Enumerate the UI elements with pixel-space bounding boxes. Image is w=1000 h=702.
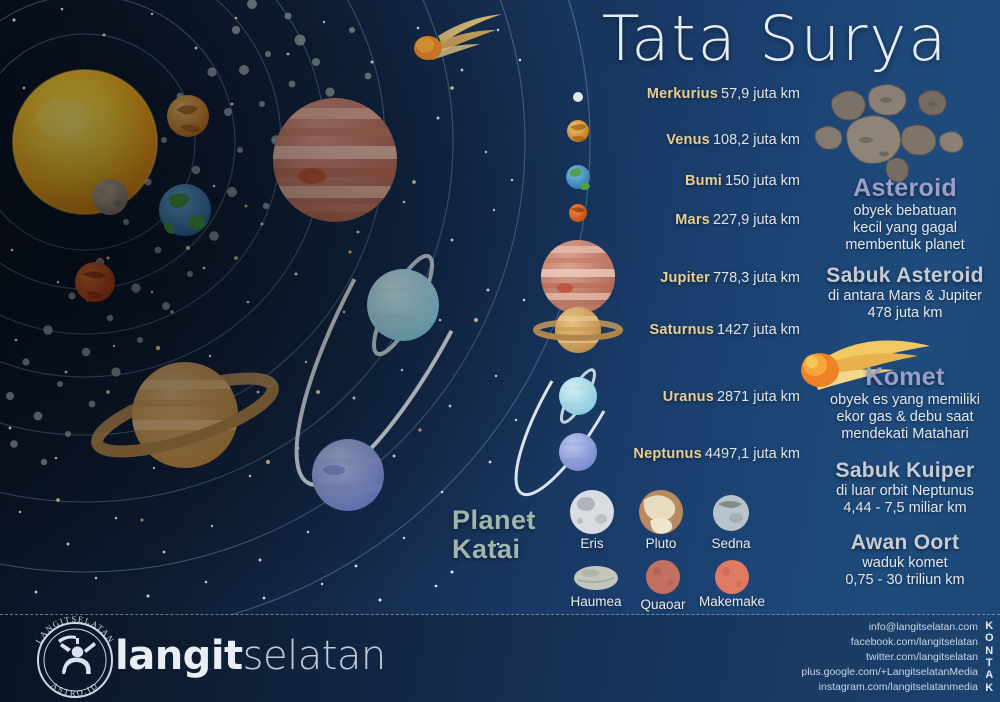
planet-distance: 1427 juta km	[717, 322, 800, 338]
comet-desc-line1: obyek es yang memiliki	[810, 392, 1000, 409]
contact-facebook[interactable]: facebook.com/langitselatan	[801, 635, 978, 650]
asteroid-belt-section: Sabuk Asteroid di antara Mars & Jupiter …	[810, 264, 1000, 322]
planet-row-uranus: Uranus2871 juta km	[663, 389, 800, 405]
planet-name: Uranus	[663, 389, 714, 405]
wordmark-bold: langit	[115, 633, 243, 679]
asteroid-heading: Asteroid	[810, 174, 1000, 203]
kuiper-belt-description: di luar orbit Neptunus 4,44 - 7,5 miliar…	[810, 483, 1000, 517]
planet-row-venus: Venus108,2 juta km	[666, 132, 800, 148]
kontak-vertical-label: KONTAK	[982, 620, 998, 694]
planet-distance: 4497,1 juta km	[705, 446, 800, 462]
planet-name: Jupiter	[660, 270, 710, 286]
planet-distance: 150 juta km	[725, 173, 800, 189]
contact-instagram[interactable]: instagram.com/langitselatanmedia	[801, 680, 978, 695]
asteroid-belt-line1: di antara Mars & Jupiter	[810, 288, 1000, 305]
sun	[13, 70, 157, 214]
dwarf-label-sedna: Sedna	[691, 536, 771, 551]
page-title: Tata Surya	[560, 6, 990, 71]
dwarf-planets-title: Planet Katai	[452, 506, 562, 564]
planet-row-jupiter: Jupiter778,3 juta km	[660, 270, 800, 286]
planet-neptune-diagram	[310, 439, 388, 511]
contact-googleplus[interactable]: plus.google.com/+LangitselatanMedia	[801, 665, 978, 680]
oort-cloud-description: waduk komet 0,75 - 30 triliun km	[810, 555, 1000, 589]
solar-system-diagram	[0, 0, 1000, 702]
dwarf-title-line2: Katai	[452, 535, 562, 564]
infographic-poster: Tata Surya	[0, 0, 1000, 702]
contact-twitter[interactable]: twitter.com/langitselatan	[801, 650, 978, 665]
planet-distance: 2871 juta km	[717, 389, 800, 405]
planet-row-neptunus: Neptunus4497,1 juta km	[633, 446, 800, 462]
contact-list: info@langitselatan.com facebook.com/lang…	[801, 620, 978, 695]
planet-distance: 108,2 juta km	[713, 132, 800, 148]
planet-distance: 57,9 juta km	[721, 86, 800, 102]
asteroid-belt-heading: Sabuk Asteroid	[810, 264, 1000, 288]
planet-name: Neptunus	[633, 446, 701, 462]
kontak-letter: N	[982, 645, 998, 657]
planet-venus-diagram	[167, 95, 209, 137]
kontak-letter: T	[982, 657, 998, 669]
oort-cloud-line2: 0,75 - 30 triliun km	[810, 572, 1000, 589]
asteroid-belt-description: di antara Mars & Jupiter 478 juta km	[810, 288, 1000, 322]
comet-description: obyek es yang memiliki ekor gas & debu s…	[810, 392, 1000, 443]
dwarf-label-quaoar: Quaoar	[623, 597, 703, 612]
planet-row-saturnus: Saturnus1427 juta km	[650, 322, 800, 338]
planet-earth-diagram	[159, 184, 211, 236]
kontak-letter: K	[982, 620, 998, 632]
asteroid-desc-line2: kecil yang gagal	[810, 220, 1000, 237]
kontak-letter: A	[982, 669, 998, 681]
asteroid-desc-line3: membentuk planet	[810, 237, 1000, 254]
planet-name: Saturnus	[650, 322, 714, 338]
kuiper-belt-line1: di luar orbit Neptunus	[810, 483, 1000, 500]
oort-cloud-line1: waduk komet	[810, 555, 1000, 572]
kuiper-belt-section: Sabuk Kuiper di luar orbit Neptunus 4,44…	[810, 459, 1000, 517]
dwarf-title-line1: Planet	[452, 506, 562, 535]
planet-jupiter-diagram	[270, 98, 402, 222]
planet-distance: 778,3 juta km	[713, 270, 800, 286]
footer-divider	[0, 614, 1000, 615]
planet-distance: 227,9 juta km	[713, 212, 800, 228]
planet-row-bumi: Bumi150 juta km	[685, 173, 800, 189]
kuiper-belt-line2: 4,44 - 7,5 miliar km	[810, 500, 1000, 517]
oort-cloud-heading: Awan Oort	[810, 531, 1000, 555]
planet-name: Mars	[675, 212, 710, 228]
planet-name: Venus	[666, 132, 710, 148]
asteroid-section: Asteroid obyek bebatuan kecil yang gagal…	[810, 174, 1000, 254]
dwarf-label-eris: Eris	[552, 536, 632, 551]
oort-cloud-section: Awan Oort waduk komet 0,75 - 30 triliun …	[810, 531, 1000, 589]
planet-row-mars: Mars227,9 juta km	[675, 212, 800, 228]
kontak-letter: O	[982, 632, 998, 644]
asteroid-desc-line1: obyek bebatuan	[810, 203, 1000, 220]
planet-row-merkurius: Merkurius57,9 juta km	[647, 86, 800, 102]
comet-section: Komet obyek es yang memiliki ekor gas & …	[810, 363, 1000, 443]
comet-heading: Komet	[810, 363, 1000, 392]
planet-mercury-diagram	[92, 179, 128, 215]
dwarf-label-makemake: Makemake	[692, 594, 772, 609]
planet-mars-diagram	[75, 262, 115, 302]
dwarf-label-pluto: Pluto	[621, 536, 701, 551]
contact-email[interactable]: info@langitselatan.com	[801, 620, 978, 635]
langitselatan-wordmark: langitselatan	[115, 633, 386, 679]
comet-illustration-sky	[414, 14, 502, 60]
wordmark-thin: selatan	[243, 633, 386, 679]
kuiper-belt-heading: Sabuk Kuiper	[810, 459, 1000, 483]
planet-name: Merkurius	[647, 86, 718, 102]
planet-name: Bumi	[685, 173, 722, 189]
comet-desc-line2: ekor gas & debu saat	[810, 409, 1000, 426]
asteroid-belt-line2: 478 juta km	[810, 305, 1000, 322]
asteroid-description: obyek bebatuan kecil yang gagal membentu…	[810, 203, 1000, 254]
planet-saturn-diagram	[90, 362, 280, 468]
kontak-letter: K	[982, 682, 998, 694]
comet-desc-line3: mendekati Matahari	[810, 426, 1000, 443]
